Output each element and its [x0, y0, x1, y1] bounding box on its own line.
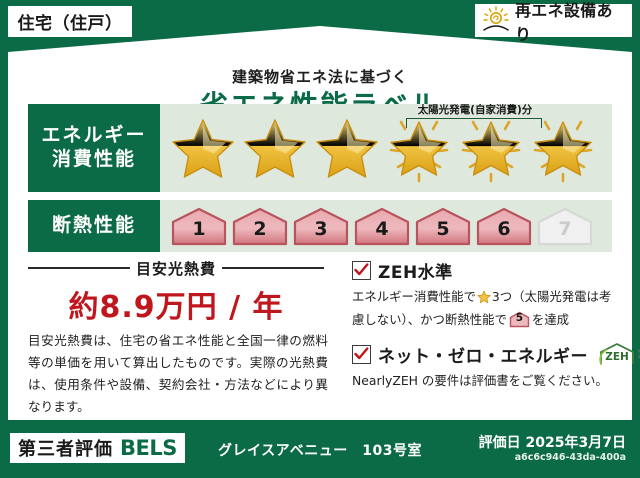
checkbox-checked-icon — [352, 261, 371, 280]
insulation-level-number: 5 — [436, 220, 449, 246]
housing-type-badge: 住宅（住戸） — [8, 6, 132, 37]
zeh-logo-icon: ZEH NearlyZEH — [597, 342, 637, 366]
bels-jp-label: 第三者評価 — [18, 435, 113, 461]
evaluation-id: a6c6c946-43da-400a — [515, 452, 626, 463]
rule-right — [222, 267, 324, 269]
insulation-performance-row: 断熱性能 1 2 — [28, 200, 612, 252]
insulation-level-2: 2 — [231, 206, 289, 246]
insulation-level-number: 4 — [375, 220, 388, 246]
svg-text:ZEH: ZEH — [605, 351, 629, 363]
zeh-standard-row: ZEH水準 — [352, 258, 614, 283]
net-zero-energy-title: ネット・ゼロ・エネルギー — [378, 342, 588, 367]
zeh-desc-part-a: エネルギー消費性能で — [352, 289, 476, 304]
insulation-level-6: 6 — [475, 206, 533, 246]
energy-performance-header: エネルギー 消費性能 — [28, 104, 160, 192]
energy-stars-area: 太陽光発電(自家消費)分 — [160, 104, 612, 192]
insulation-level-scale: 1 2 3 4 — [160, 200, 612, 252]
energy-performance-row: エネルギー 消費性能 太陽光発電(自家消費)分 — [28, 104, 612, 192]
insulation-level-5: 5 — [414, 206, 472, 246]
renewable-equipment-label: 再エネ設備あり — [515, 0, 626, 45]
insulation-level-3: 3 — [292, 206, 350, 246]
property-name: グレイスアベニュー 103号室 — [218, 440, 422, 460]
net-zero-energy-row: ネット・ゼロ・エネルギー ZEH NearlyZEH — [352, 342, 614, 367]
insulation-levels-area: 1 2 3 4 — [160, 200, 612, 252]
insulation-level-number: 3 — [314, 220, 327, 246]
zeh-standard-title: ZEH水準 — [378, 258, 453, 283]
insulation-level-1: 1 — [170, 206, 228, 246]
insulation-level-number: 1 — [192, 220, 205, 246]
insulation-badge-inline-icon: 5 — [509, 311, 530, 328]
insulation-level-4: 4 — [353, 206, 411, 246]
star-filled-solar — [456, 106, 526, 190]
bels-en-label: BELS — [120, 436, 177, 460]
energy-label-line1: エネルギー — [41, 124, 146, 148]
evaluation-date: 評価日 2025年3月7日 — [479, 432, 626, 452]
rule-left — [28, 267, 130, 269]
energy-performance-label: 住宅（住戸） 再エネ設備あり 建築物省エネ法に基づく — [0, 0, 640, 478]
star-filled — [240, 106, 310, 190]
utility-cost-value: 約8.9万円 / 年 — [28, 282, 324, 326]
star-filled-solar — [384, 106, 454, 190]
label-footer: 第三者評価 BELS グレイスアベニュー 103号室 評価日 2025年3月7日… — [0, 426, 640, 478]
star-filled-solar — [528, 106, 598, 190]
insulation-label: 断熱性能 — [52, 214, 136, 238]
insulation-level-number: 7 — [558, 220, 571, 246]
zeh-standard-description: エネルギー消費性能で3つ（太陽光発電は考慮しない）、かつ断熱性能で5を達成 — [352, 287, 614, 330]
utility-cost-note: 目安光熱費は、住宅の省エネ性能と全国一律の燃料等の単価を用いて算出したものです。… — [28, 330, 328, 418]
star-filled — [168, 106, 238, 190]
star-rating — [160, 104, 612, 192]
sun-icon — [481, 6, 511, 36]
insulation-level-number: 6 — [497, 220, 510, 246]
star-inline-icon — [477, 290, 491, 310]
star-filled — [312, 106, 382, 190]
zeh-section: ZEH水準 エネルギー消費性能で3つ（太陽光発電は考慮しない）、かつ断熱性能で5… — [352, 258, 614, 391]
insulation-badge-level: 5 — [509, 310, 530, 327]
checkbox-checked-icon — [352, 345, 371, 364]
utility-cost-heading-text: 目安光熱費 — [136, 258, 216, 279]
housing-type-label: 住宅（住戸） — [18, 9, 123, 34]
utility-cost-heading: 目安光熱費 — [28, 258, 324, 278]
bels-badge: 第三者評価 BELS — [10, 433, 185, 463]
renewable-equipment-badge: 再エネ設備あり — [475, 4, 632, 37]
net-zero-energy-description: NearlyZEH の要件は評価書をご覧ください。 — [352, 371, 614, 391]
insulation-performance-header: 断熱性能 — [28, 200, 160, 252]
insulation-level-number: 2 — [253, 220, 266, 246]
insulation-level-7: 7 — [536, 206, 594, 246]
zeh-desc-part-c: を達成 — [532, 312, 569, 327]
energy-label-line2: 消費性能 — [52, 148, 136, 172]
